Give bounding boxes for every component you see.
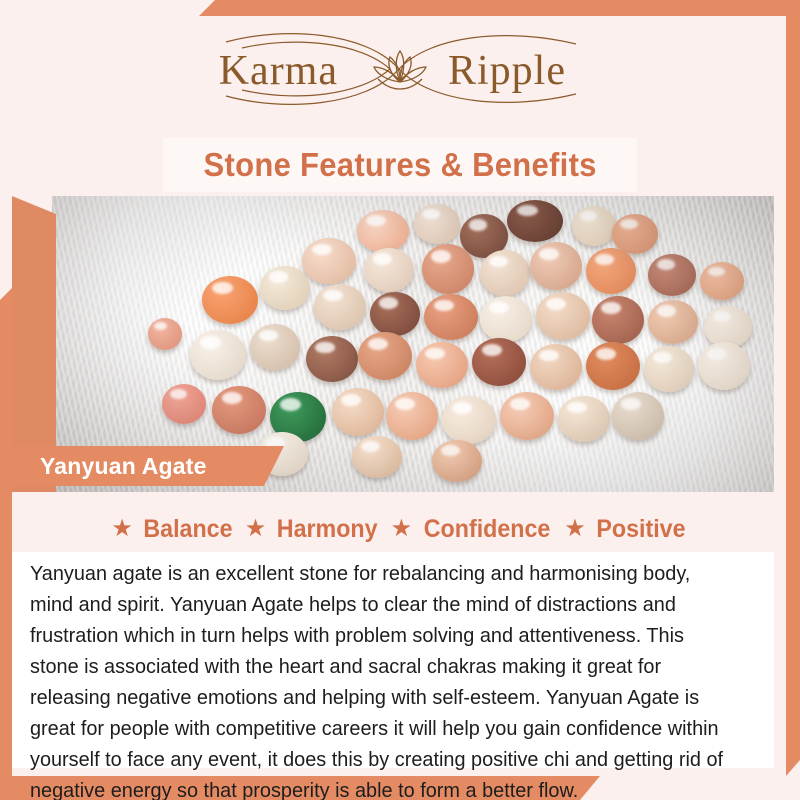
frame-strip-right <box>786 0 800 800</box>
brand-name-right: Ripple <box>448 48 566 94</box>
benefit-item: ★ Positive <box>564 515 688 544</box>
benefit-item: ★ Confidence <box>391 515 556 544</box>
frame-strip-top <box>0 0 800 16</box>
star-icon: ★ <box>245 517 267 541</box>
star-icon: ★ <box>564 517 586 541</box>
benefits-row: ★ Balance ★ Harmony ★ Confidence ★ Posit… <box>0 508 800 550</box>
benefit-label: Harmony <box>277 515 378 544</box>
benefit-label: Balance <box>143 515 232 544</box>
description-panel: Yanyuan agate is an excellent stone for … <box>12 552 774 768</box>
star-icon: ★ <box>111 517 133 541</box>
benefit-item: ★ Balance <box>111 515 235 544</box>
stone-name: Yanyuan Agate <box>40 453 207 480</box>
description-text: Yanyuan agate is an excellent stone for … <box>30 558 732 800</box>
benefit-item: ★ Harmony <box>245 515 382 544</box>
star-icon: ★ <box>391 517 413 541</box>
brand-logo: Karma Ripple <box>0 22 800 118</box>
brand-name-left: Karma <box>219 48 338 94</box>
logo-svg: Karma Ripple <box>190 24 610 116</box>
benefit-label: Positive <box>596 515 685 544</box>
title-banner: Stone Features & Benefits <box>163 138 637 192</box>
stone-name-banner: Yanyuan Agate <box>12 446 284 486</box>
page-title: Stone Features & Benefits <box>203 146 596 184</box>
infographic-page: Karma Ripple Stone Features & Benefits <box>0 0 800 800</box>
benefit-label: Confidence <box>424 515 551 544</box>
